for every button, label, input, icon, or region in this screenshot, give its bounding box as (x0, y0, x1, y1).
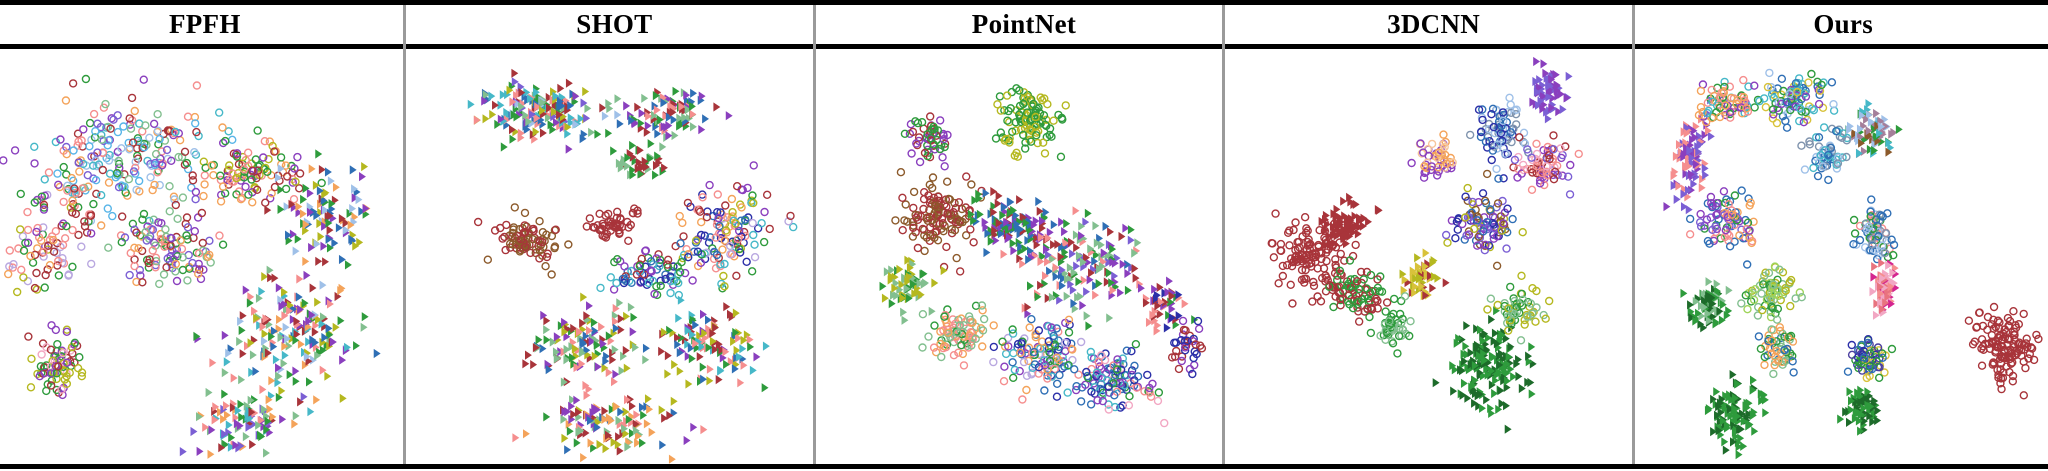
scatter-marker-circle (12, 147, 19, 154)
scatter-marker-triangle (700, 425, 707, 434)
scatter-marker-circle (991, 343, 998, 350)
scatter-marker-circle (1279, 273, 1286, 280)
scatter-marker-circle (1857, 237, 1864, 244)
scatter-marker-circle (1740, 77, 1747, 84)
scatter-marker-triangle (1132, 264, 1139, 273)
scatter-marker-circle (613, 280, 620, 287)
scatter-marker-triangle (983, 189, 990, 198)
scatter-marker-triangle (276, 372, 283, 381)
scatter-marker-circle (210, 172, 217, 179)
scatter-marker-triangle (543, 316, 550, 325)
scatter-marker-triangle (339, 255, 346, 264)
scatter-marker-circle (87, 120, 94, 127)
scatter-marker-circle (1521, 321, 1528, 328)
scatter-marker-circle (201, 181, 208, 188)
scatter-marker-circle (291, 196, 298, 203)
scatter-marker-circle (1493, 165, 1500, 172)
scatter-marker-triangle (1125, 286, 1132, 295)
scatter-marker-triangle (696, 352, 703, 361)
scatter-marker-triangle (309, 164, 316, 173)
scatter-marker-circle (84, 172, 91, 179)
scatter-marker-circle (219, 124, 226, 131)
scatter-marker-circle (86, 143, 93, 150)
scatter-marker-circle (1394, 350, 1401, 357)
scatter-marker-triangle (1699, 183, 1706, 192)
scatter-marker-circle (1517, 337, 1524, 344)
scatter-marker-circle (714, 191, 721, 198)
scatter-marker-triangle (591, 318, 598, 327)
scatter-marker-circle (1507, 101, 1514, 108)
scatter-marker-circle (1407, 318, 1414, 325)
scatter-marker-circle (981, 316, 988, 323)
scatter-marker-triangle (540, 128, 547, 137)
scatter-marker-circle (536, 218, 543, 225)
scatter-marker-triangle (1461, 379, 1468, 388)
scatter-marker-triangle (323, 188, 330, 197)
scatter-marker-triangle (543, 335, 550, 344)
scatter-marker-circle (174, 215, 181, 222)
scatter-marker-circle (902, 201, 909, 208)
scatter-marker-triangle (705, 315, 712, 324)
scatter-marker-triangle (566, 79, 573, 88)
scatter-marker-circle (927, 113, 934, 120)
scatter-marker-triangle (279, 415, 286, 424)
scatter-marker-triangle (315, 149, 322, 158)
scatter-marker-triangle (532, 127, 539, 136)
scatter-marker-circle (201, 172, 208, 179)
scatter-marker-triangle (1706, 277, 1713, 286)
scatter-marker-circle (19, 233, 26, 240)
scatter-marker-triangle (512, 433, 519, 442)
scatter-marker-circle (1176, 365, 1183, 372)
scatter-marker-triangle (301, 392, 308, 401)
scatter-marker-circle (941, 163, 948, 170)
scatter-marker-triangle (1872, 262, 1879, 271)
scatter-marker-triangle (1493, 306, 1500, 315)
scatter-marker-circle (114, 129, 121, 136)
scatter-marker-triangle (350, 165, 357, 174)
scatter-marker-triangle (564, 445, 571, 454)
scatter-marker-circle (17, 190, 24, 197)
scatter-marker-circle (78, 243, 85, 250)
tsne-comparison-figure: FPFH SHOT PointNet 3DCNN Ours (0, 0, 2048, 471)
scatter-marker-circle (1078, 398, 1085, 405)
scatter-marker-circle (1509, 216, 1516, 223)
scatter-marker-circle (1829, 79, 1836, 86)
scatter-marker-triangle (629, 402, 636, 411)
scatter-marker-circle (0, 157, 7, 164)
scatter-marker-circle (1011, 366, 1018, 373)
scatter-marker-circle (1287, 281, 1294, 288)
scatter-marker-triangle (665, 131, 672, 140)
scatter-marker-circle (174, 278, 181, 285)
scatter-marker-circle (1533, 140, 1540, 147)
scatter-marker-triangle (180, 447, 187, 456)
scatter-marker-circle (1784, 124, 1791, 131)
scatter-panel-fpfh (0, 49, 410, 464)
scatter-marker-triangle (314, 298, 321, 307)
scatter-marker-circle (899, 194, 906, 201)
scatter-marker-circle (60, 164, 67, 171)
scatter-marker-triangle (359, 172, 366, 181)
scatter-marker-triangle (644, 121, 651, 130)
scatter-marker-circle (75, 365, 82, 372)
scatter-marker-triangle (1429, 284, 1436, 293)
scatter-marker-circle (1687, 231, 1694, 238)
scatter-marker-circle (6, 247, 13, 254)
scatter-marker-circle (1408, 160, 1415, 167)
scatter-marker-triangle (1559, 105, 1566, 114)
scatter-marker-triangle (557, 84, 564, 93)
scatter-marker-circle (1494, 302, 1501, 309)
scatter-marker-triangle (333, 183, 340, 192)
scatter-marker-triangle (1866, 99, 1873, 108)
scatter-marker-circle (27, 384, 34, 391)
scatter-marker-circle (994, 101, 1001, 108)
scatter-marker-circle (1516, 134, 1523, 141)
scatter-marker-triangle (605, 368, 612, 377)
scatter-panel-shot (410, 49, 820, 464)
scatter-marker-circle (60, 198, 67, 205)
scatter-marker-triangle (1497, 386, 1504, 395)
scatter-marker-circle (24, 278, 31, 285)
scatter-marker-circle (1066, 329, 1073, 336)
scatter-marker-triangle (616, 446, 623, 455)
scatter-marker-circle (17, 226, 24, 233)
scatter-marker-triangle (1730, 370, 1737, 379)
scatter-marker-circle (597, 284, 604, 291)
scatter-marker-triangle (659, 142, 666, 151)
scatter-marker-circle (920, 311, 927, 318)
scatter-marker-circle (548, 271, 555, 278)
scatter-marker-circle (721, 202, 728, 209)
scatter-marker-triangle (293, 247, 300, 256)
scatter-marker-triangle (319, 165, 326, 174)
scatter-marker-circle (1028, 316, 1035, 323)
scatter-marker-circle (166, 183, 173, 190)
scatter-marker-triangle (1752, 427, 1759, 436)
scatter-marker-triangle (278, 386, 285, 395)
scatter-marker-triangle (1046, 267, 1053, 276)
scatter-marker-triangle (1875, 416, 1882, 425)
scatter-marker-triangle (692, 320, 699, 329)
scatter-marker-triangle (296, 274, 303, 283)
scatter-marker-circle (961, 362, 968, 369)
scatter-marker-circle (30, 259, 37, 266)
scatter-marker-triangle (722, 347, 729, 356)
scatter-marker-circle (1272, 210, 1279, 217)
scatter-marker-triangle (1528, 342, 1535, 351)
scatter-marker-triangle (268, 376, 275, 385)
scatter-marker-circle (27, 253, 34, 260)
scatter-marker-triangle (209, 358, 216, 367)
scatter-marker-triangle (1073, 243, 1080, 252)
scatter-marker-circle (1761, 361, 1768, 368)
scatter-marker-triangle (1011, 246, 1018, 255)
scatter-marker-triangle (293, 411, 300, 420)
scatter-marker-triangle (523, 429, 530, 438)
scatter-marker-circle (892, 217, 899, 224)
column-header-3dcnn: 3DCNN (1229, 5, 1639, 44)
scatter-marker-circle (1062, 102, 1069, 109)
scatter-marker-circle (154, 111, 161, 118)
scatter-marker-circle (217, 172, 224, 179)
scatter-marker-circle (760, 239, 767, 246)
scatter-marker-triangle (629, 327, 636, 336)
scatter-marker-circle (1787, 303, 1794, 310)
scatter-marker-circle (1010, 350, 1017, 357)
scatter-marker-circle (1566, 191, 1573, 198)
scatter-marker-circle (1744, 261, 1751, 268)
scatter-marker-circle (184, 277, 191, 284)
scatter-marker-circle (1868, 196, 1875, 203)
column-header-fpfh: FPFH (0, 5, 410, 44)
scatter-marker-circle (624, 237, 631, 244)
scatter-marker-circle (1825, 176, 1832, 183)
scatter-marker-circle (166, 208, 173, 215)
scatter-marker-circle (179, 194, 186, 201)
scatter-marker-circle (678, 219, 685, 226)
scatter-marker-circle (751, 241, 758, 248)
scatter-marker-triangle (630, 313, 637, 322)
scatter-marker-triangle (611, 377, 618, 386)
scatter-marker-triangle (1432, 378, 1439, 387)
scatter-marker-triangle (672, 87, 679, 96)
scatter-marker-triangle (1736, 450, 1743, 459)
scatter-marker-triangle (688, 354, 695, 363)
scatter-marker-circle (997, 93, 1004, 100)
scatter-marker-circle (564, 241, 571, 248)
scatter-marker-circle (114, 112, 121, 119)
scatter-marker-circle (957, 268, 964, 275)
scatter-marker-triangle (1722, 437, 1729, 446)
scatter-marker-triangle (598, 322, 605, 331)
scatter-marker-triangle (623, 364, 630, 373)
scatter-marker-triangle (1016, 195, 1023, 204)
scatter-marker-triangle (1873, 109, 1880, 118)
scatter-marker-triangle (467, 100, 474, 109)
scatter-marker-triangle (565, 145, 572, 154)
scatter-marker-circle (1444, 239, 1451, 246)
scatter-marker-triangle (525, 351, 532, 360)
scatter-marker-triangle (1714, 387, 1721, 396)
scatter-marker-circle (1292, 219, 1299, 226)
scatter-marker-triangle (361, 323, 368, 332)
scatter-marker-triangle (197, 447, 204, 456)
scatter-marker-circle (220, 241, 227, 248)
scatter-marker-triangle (643, 344, 650, 353)
scatter-marker-circle (1495, 175, 1502, 182)
scatter-marker-triangle (314, 239, 321, 248)
scatter-marker-circle (1519, 229, 1526, 236)
scatter-marker-triangle (191, 427, 198, 436)
scatter-marker-triangle (659, 440, 666, 449)
scatter-marker-triangle (918, 290, 925, 299)
scatter-marker-triangle (882, 294, 889, 303)
scatter-plot-row (0, 49, 2048, 464)
scatter-marker-circle (245, 149, 252, 156)
scatter-marker-circle (1506, 94, 1513, 101)
scatter-marker-triangle (1096, 279, 1103, 288)
scatter-canvas-ours (1638, 49, 2048, 464)
scatter-marker-circle (147, 174, 154, 181)
scatter-marker-triangle (535, 335, 542, 344)
scatter-marker-triangle (582, 87, 589, 96)
scatter-marker-triangle (582, 428, 589, 437)
scatter-marker-circle (910, 204, 917, 211)
scatter-marker-circle (911, 188, 918, 195)
scatter-marker-triangle (669, 455, 676, 464)
scatter-marker-triangle (602, 444, 609, 453)
scatter-marker-circle (667, 290, 674, 297)
scatter-marker-circle (262, 199, 269, 206)
scatter-marker-circle (55, 272, 62, 279)
scatter-marker-triangle (1027, 281, 1034, 290)
scatter-marker-circle (105, 179, 112, 186)
scatter-marker-triangle (267, 266, 274, 275)
scatter-marker-circle (1270, 254, 1277, 261)
scatter-marker-circle (52, 228, 59, 235)
scatter-marker-triangle (249, 440, 256, 449)
scatter-marker-triangle (941, 266, 948, 275)
scatter-marker-circle (1058, 153, 1065, 160)
scatter-marker-circle (990, 322, 997, 329)
scatter-marker-triangle (336, 223, 343, 232)
scatter-marker-triangle (298, 340, 305, 349)
scatter-marker-circle (105, 244, 112, 251)
scatter-marker-circle (1484, 306, 1491, 313)
scatter-panel-3dcnn (1229, 49, 1639, 464)
scatter-marker-triangle (239, 326, 246, 335)
scatter-marker-circle (902, 130, 909, 137)
scatter-marker-triangle (737, 378, 744, 387)
scatter-marker-circle (1010, 374, 1017, 381)
scatter-marker-triangle (1738, 434, 1745, 443)
scatter-marker-triangle (224, 357, 231, 366)
scatter-marker-circle (90, 201, 97, 208)
scatter-marker-circle (993, 135, 1000, 142)
scatter-marker-circle (278, 154, 285, 161)
column-header-ours: Ours (1638, 5, 2048, 44)
scatter-marker-triangle (932, 278, 939, 287)
scatter-marker-triangle (706, 365, 713, 374)
scatter-marker-circle (1487, 295, 1494, 302)
scatter-marker-circle (898, 169, 905, 176)
scatter-marker-triangle (1674, 195, 1681, 204)
scatter-marker-triangle (1340, 197, 1347, 206)
scatter-marker-triangle (1064, 292, 1071, 301)
scatter-marker-triangle (1479, 404, 1486, 413)
scatter-marker-triangle (1128, 225, 1135, 234)
scatter-marker-circle (151, 120, 158, 127)
scatter-marker-circle (1126, 393, 1133, 400)
scatter-marker-circle (652, 283, 659, 290)
scatter-marker-circle (1019, 396, 1026, 403)
scatter-marker-triangle (596, 440, 603, 449)
scatter-marker-triangle (1135, 238, 1142, 247)
scatter-marker-circle (62, 235, 69, 242)
scatter-marker-triangle (291, 419, 298, 428)
scatter-marker-triangle (996, 191, 1003, 200)
scatter-marker-circle (1575, 150, 1582, 157)
scatter-marker-triangle (610, 146, 617, 155)
scatter-marker-triangle (739, 344, 746, 353)
scatter-marker-triangle (670, 397, 677, 406)
scatter-marker-triangle (231, 373, 238, 382)
scatter-marker-triangle (207, 450, 214, 459)
scatter-marker-triangle (643, 419, 650, 428)
scatter-marker-triangle (880, 282, 887, 291)
scatter-marker-circle (511, 204, 518, 211)
scatter-marker-triangle (636, 146, 643, 155)
scatter-marker-triangle (473, 116, 480, 125)
scatter-marker-circle (1001, 378, 1008, 385)
scatter-marker-circle (678, 259, 685, 266)
scatter-marker-triangle (1723, 446, 1730, 455)
scatter-marker-circle (937, 117, 944, 124)
scatter-marker-circle (88, 260, 95, 267)
scatter-marker-circle (732, 272, 739, 279)
scatter-marker-triangle (1051, 220, 1058, 229)
scatter-marker-circle (968, 181, 975, 188)
scatter-marker-circle (1048, 133, 1055, 140)
scatter-marker-circle (748, 268, 755, 275)
scatter-marker-triangle (282, 351, 289, 360)
scatter-marker-circle (930, 174, 937, 181)
scatter-marker-circle (193, 82, 200, 89)
scatter-marker-triangle (1488, 409, 1495, 418)
scatter-canvas-shot (410, 49, 820, 464)
scatter-marker-circle (915, 245, 922, 252)
scatter-marker-triangle (702, 114, 709, 123)
scatter-marker-circle (931, 322, 938, 329)
scatter-marker-circle (751, 254, 758, 261)
scatter-marker-triangle (902, 316, 909, 325)
scatter-marker-circle (970, 239, 977, 246)
scatter-marker-triangle (614, 94, 621, 103)
scatter-marker-circle (1849, 342, 1856, 349)
scatter-marker-circle (129, 94, 136, 101)
scatter-marker-circle (919, 344, 926, 351)
scatter-marker-triangle (747, 342, 754, 351)
column-header-shot: SHOT (410, 5, 820, 44)
scatter-marker-triangle (1085, 209, 1092, 218)
scatter-marker-circle (249, 199, 256, 206)
scatter-marker-circle (195, 214, 202, 221)
scatter-marker-circle (1518, 272, 1525, 279)
scatter-marker-circle (921, 247, 928, 254)
scatter-marker-triangle (929, 307, 936, 316)
scatter-marker-circle (484, 256, 491, 263)
scatter-marker-circle (938, 354, 945, 361)
scatter-marker-triangle (315, 257, 322, 266)
scatter-marker-circle (1744, 306, 1751, 313)
scatter-canvas-fpfh (0, 49, 410, 464)
scatter-marker-triangle (732, 309, 739, 318)
scatter-marker-circle (1367, 329, 1374, 336)
scatter-marker-triangle (1106, 313, 1113, 322)
scatter-marker-circle (1054, 393, 1061, 400)
scatter-marker-circle (162, 226, 169, 233)
scatter-marker-circle (499, 235, 506, 242)
scatter-marker-circle (24, 209, 31, 216)
scatter-marker-circle (943, 243, 950, 250)
scatter-marker-circle (1852, 230, 1859, 237)
scatter-marker-circle (664, 256, 671, 263)
scatter-marker-triangle (713, 102, 720, 111)
scatter-marker-triangle (1019, 259, 1026, 268)
scatter-marker-circle (190, 177, 197, 184)
